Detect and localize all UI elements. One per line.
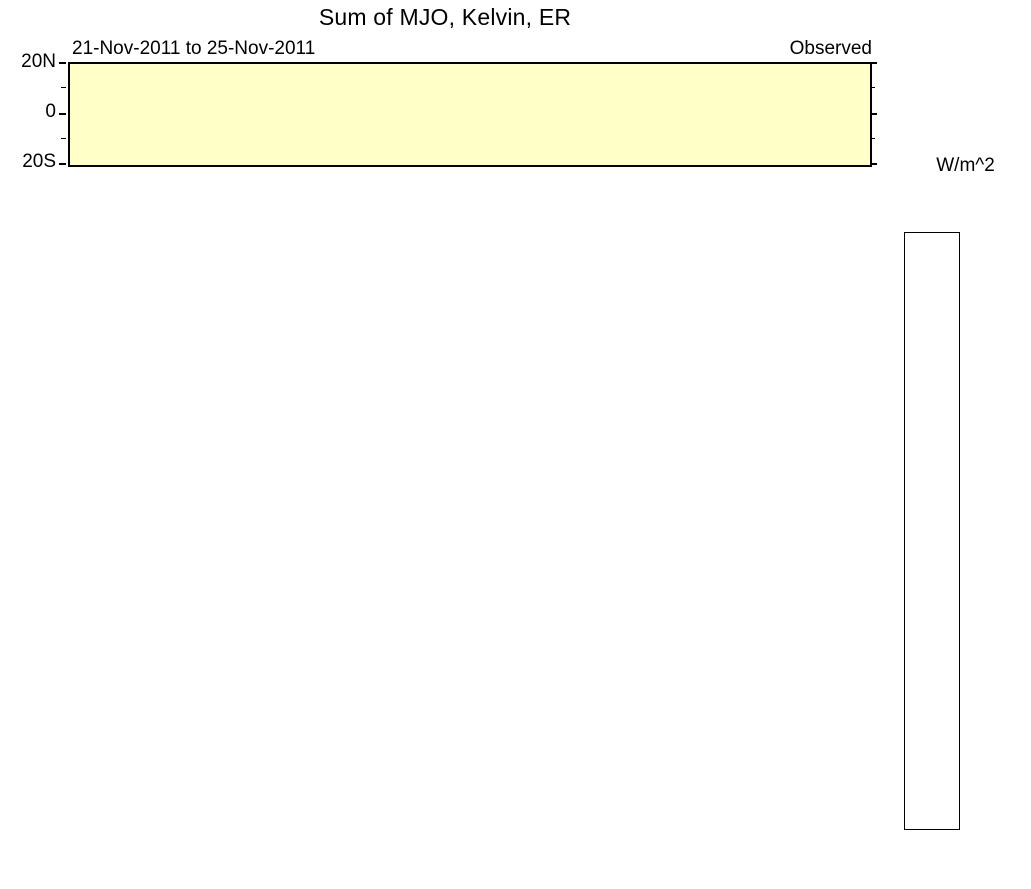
y-tick-mark <box>870 138 875 139</box>
y-tick-mark <box>59 113 66 115</box>
y-tick-mark <box>59 62 66 64</box>
anomaly-field <box>70 64 870 165</box>
y-tick-label: 20N <box>21 51 56 73</box>
y-tick-label: 20S <box>22 151 56 173</box>
y-tick-mark <box>61 87 66 88</box>
panel-kind-label: Observed <box>790 38 872 60</box>
y-tick-mark <box>59 163 66 165</box>
y-axis-labels: 20N020S <box>0 62 62 163</box>
colorbar-units-label: W/m^2 <box>900 155 1031 177</box>
y-tick-mark <box>870 87 875 88</box>
y-tick-mark <box>870 163 877 165</box>
y-tick-label: 0 <box>45 101 56 123</box>
figure-root: Sum of MJO, Kelvin, ER 21-Nov-2011 to 25… <box>0 0 1031 889</box>
panel-header: 21-Nov-2011 to 25-Nov-2011Observed <box>68 36 872 60</box>
map-panel <box>68 62 872 167</box>
y-tick-mark <box>870 113 877 115</box>
x-axis <box>68 843 872 889</box>
y-tick-mark <box>870 62 877 64</box>
y-tick-mark <box>61 138 66 139</box>
colorbar <box>904 232 960 830</box>
panel-date-label: 21-Nov-2011 to 25-Nov-2011 <box>72 38 315 60</box>
page-title: Sum of MJO, Kelvin, ER <box>0 4 890 31</box>
